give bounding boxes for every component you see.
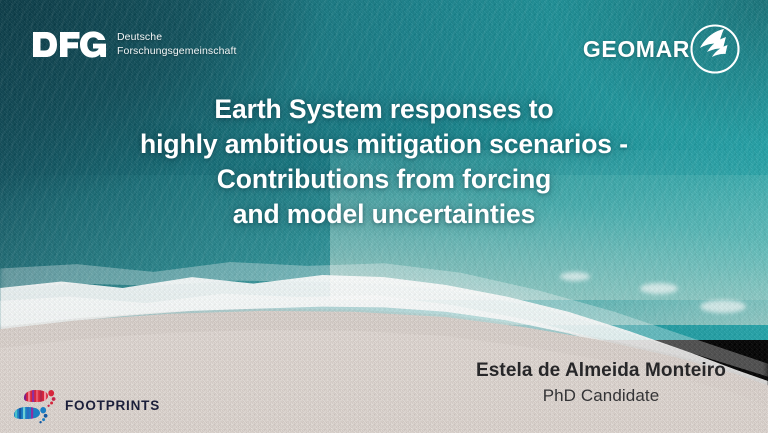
footprint-toe xyxy=(48,390,54,396)
title-slide: Deutsche Forschungsgemeinschaft GEOMAR E… xyxy=(0,0,768,433)
footprint-toe xyxy=(47,405,49,407)
footprint-blue-sole xyxy=(12,405,42,421)
title-line-2: highly ambitious mitigation scenarios - xyxy=(16,127,752,162)
footprint-toe xyxy=(44,414,48,418)
footprint-toe xyxy=(40,407,46,413)
dfg-wordmark: Deutsche Forschungsgemeinschaft xyxy=(117,31,237,58)
footprints-logo: FOOTPRINTS xyxy=(10,385,160,425)
footprints-wordmark: FOOTPRINTS xyxy=(65,398,160,413)
footprints-icon xyxy=(10,385,60,425)
geomar-logo: GEOMAR xyxy=(583,18,746,80)
footprint-toe xyxy=(52,397,56,401)
footprint-toe xyxy=(42,418,45,421)
author-block: Estela de Almeida Monteiro PhD Candidate xyxy=(476,358,726,408)
footprint-toe xyxy=(50,402,53,405)
dfg-logo-icon xyxy=(32,29,108,60)
author-name: Estela de Almeida Monteiro xyxy=(476,358,726,384)
geomar-wordmark: GEOMAR xyxy=(583,38,690,61)
author-role: PhD Candidate xyxy=(476,385,726,408)
geomar-globe-icon xyxy=(684,18,746,80)
footprint-toe xyxy=(39,421,41,423)
footprint-red-sole xyxy=(22,388,50,404)
dfg-wordmark-line2: Forschungsgemeinschaft xyxy=(117,45,237,59)
slide-title: Earth System responses to highly ambitio… xyxy=(0,92,768,232)
title-line-1: Earth System responses to xyxy=(16,92,752,127)
title-line-4: and model uncertainties xyxy=(16,197,752,232)
title-line-3: Contributions from forcing xyxy=(16,162,752,197)
dfg-wordmark-line1: Deutsche xyxy=(117,31,237,45)
dfg-logo: Deutsche Forschungsgemeinschaft xyxy=(32,29,237,60)
